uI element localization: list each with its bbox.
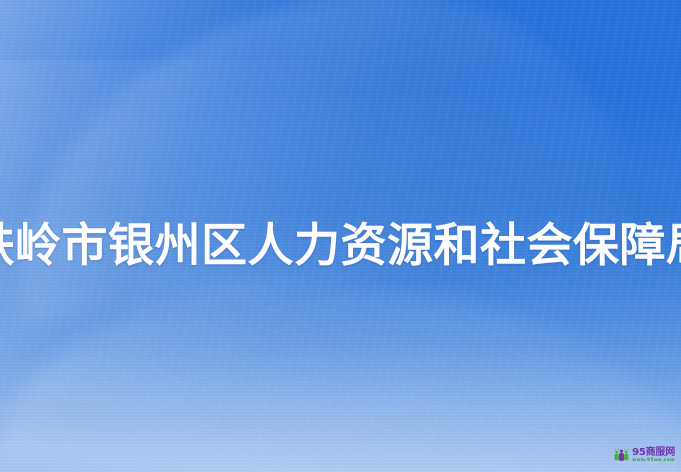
watermark-name: 95商服网	[632, 448, 675, 458]
watermark: 95商服网 www.95we.com	[614, 447, 675, 464]
site-header-banner: 铁岭市银州区人力资源和社会保障局 95商服网 www.95we.com	[0, 0, 681, 472]
banner-title-container: 铁岭市银州区人力资源和社会保障局	[0, 214, 681, 276]
page-title: 铁岭市银州区人力资源和社会保障局	[0, 222, 681, 268]
people-logo-icon	[614, 447, 629, 464]
watermark-text: 95商服网 www.95we.com	[632, 448, 675, 463]
watermark-url: www.95we.com	[632, 459, 675, 463]
